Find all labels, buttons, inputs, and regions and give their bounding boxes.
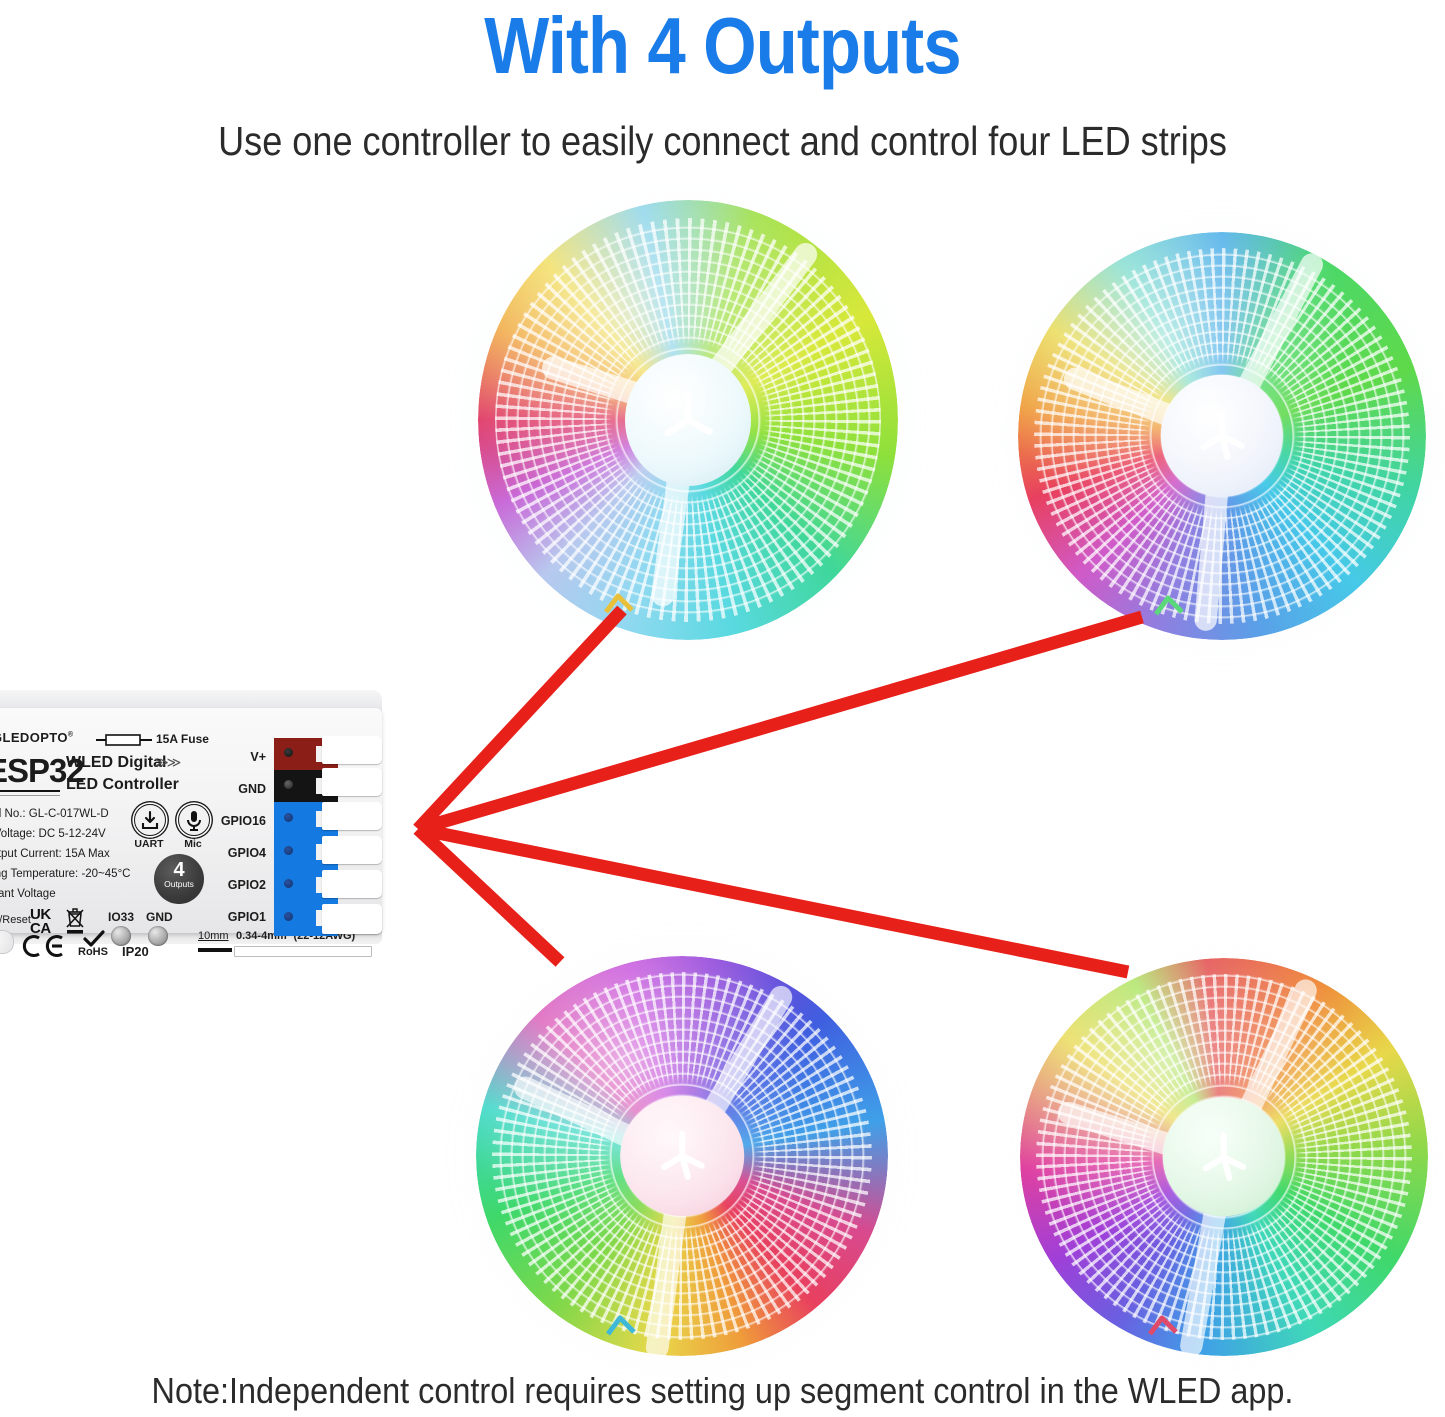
terminal-hole [284,813,293,822]
page-title: With 4 Outputs [101,2,1344,90]
reel-disc [476,956,888,1356]
reel-disc [1018,232,1426,640]
terminal-lever[interactable] [322,802,382,830]
outputs-badge: 4 Outputs [154,854,204,904]
chip-underline [0,790,60,792]
lever-stack [322,736,384,938]
connection-line-top-right [418,617,1142,829]
led-controller-device: GLEDOPTO® 15A Fuse ESP32 WLED Digital ≫≫… [0,690,382,958]
controller-faceplate: GLEDOPTO® 15A Fuse ESP32 WLED Digital ≫≫… [0,708,382,933]
terminal-lever[interactable] [322,870,382,898]
footer-note: Note:Independent control requires settin… [72,1368,1373,1414]
spec-input-voltage: Input Voltage: DC 5-12-24V [0,828,106,840]
test-pad-label-io33: IO33 [108,910,134,924]
reel-hub-star [654,1128,711,1183]
spec-voltage-mode: Constant Voltage [0,888,56,900]
led-strip-reel-top-right [1018,232,1426,640]
test-pad-io33[interactable] [111,926,131,946]
reel-lead-wire [1152,594,1186,620]
reel-hub-star [1196,1130,1252,1185]
reel-lead-wire [1146,1314,1180,1340]
reel-lead-wire [604,1314,638,1340]
terminal-hole [284,748,293,757]
page-subtitle: Use one controller to easily connect and… [87,112,1359,170]
terminal-label-vplus: V+ [200,750,266,764]
outputs-badge-number: 4 [154,860,204,880]
led-strip-reel-bottom-left [476,956,888,1356]
chip-underline-2 [0,795,60,796]
terminal-lever[interactable] [322,904,382,934]
terminal-hole [284,879,293,888]
reel-hub [1161,375,1283,497]
ce-icon [22,934,66,958]
product-line-2: LED Controller [66,776,179,794]
terminal-label-gpio16: GPIO16 [200,814,266,828]
terminal-label-gnd: GND [200,782,266,796]
function-reset-button[interactable] [0,930,14,954]
reel-lead-wire [602,592,636,618]
test-pad-gnd[interactable] [148,926,168,946]
connection-line-bottom-left [418,829,560,962]
terminal-label-gpio2: GPIO2 [200,878,266,892]
reel-hub-star [1194,408,1250,464]
ip-rating-label: IP20 [122,944,149,959]
function-reset-label: Function/Reset [0,914,31,926]
strip-length-bar [198,948,232,952]
terminal-hole [284,780,293,789]
reel-disc [1020,958,1428,1356]
fuse-label: 15A Fuse [156,732,209,746]
product-line-1: WLED Digital [66,754,166,772]
brand-name: GLEDOPTO [0,730,68,745]
connection-line-bottom-right [418,829,1128,972]
connection-line-top-left [418,610,622,829]
fuse-icon [96,733,152,747]
uart-label: UART [132,838,166,850]
uart-glyph [135,805,165,835]
registered-mark: ® [68,732,74,739]
brand-logo: GLEDOPTO® [0,730,73,745]
terminal-label-gpio4: GPIO4 [200,846,266,860]
terminal-hole [284,912,293,921]
terminal-lever[interactable] [322,768,382,796]
reel-disc [478,200,898,640]
uart-icon [134,804,166,836]
terminal-lever[interactable] [322,836,382,864]
reel-hub [620,1096,744,1216]
reel-hub [1163,1097,1285,1216]
spec-temperature: Operating Temperature: -20~45°C [0,868,130,880]
test-pad-label-gnd: GND [146,910,173,924]
ukca-icon: UK CA [30,908,51,936]
rohs-label: RoHS [78,946,108,958]
terminal-label-gpio1: GPIO1 [200,910,266,924]
led-strip-reel-top-left [478,200,898,640]
signal-icon: ≫≫ [154,754,179,771]
wire-gauge-bar [234,946,372,957]
spec-model: Model No.: GL-C-017WL-D [0,808,109,820]
reel-hub [625,354,751,486]
terminal-lever[interactable] [322,736,382,764]
spec-output-current: Total Output Current: 15A Max [0,848,110,860]
outputs-badge-text: Outputs [154,880,204,889]
led-strip-reel-bottom-right [1020,958,1428,1356]
terminal-hole [284,846,293,855]
strip-length-label: 10mm [198,930,229,942]
reel-hub-star [659,390,717,451]
